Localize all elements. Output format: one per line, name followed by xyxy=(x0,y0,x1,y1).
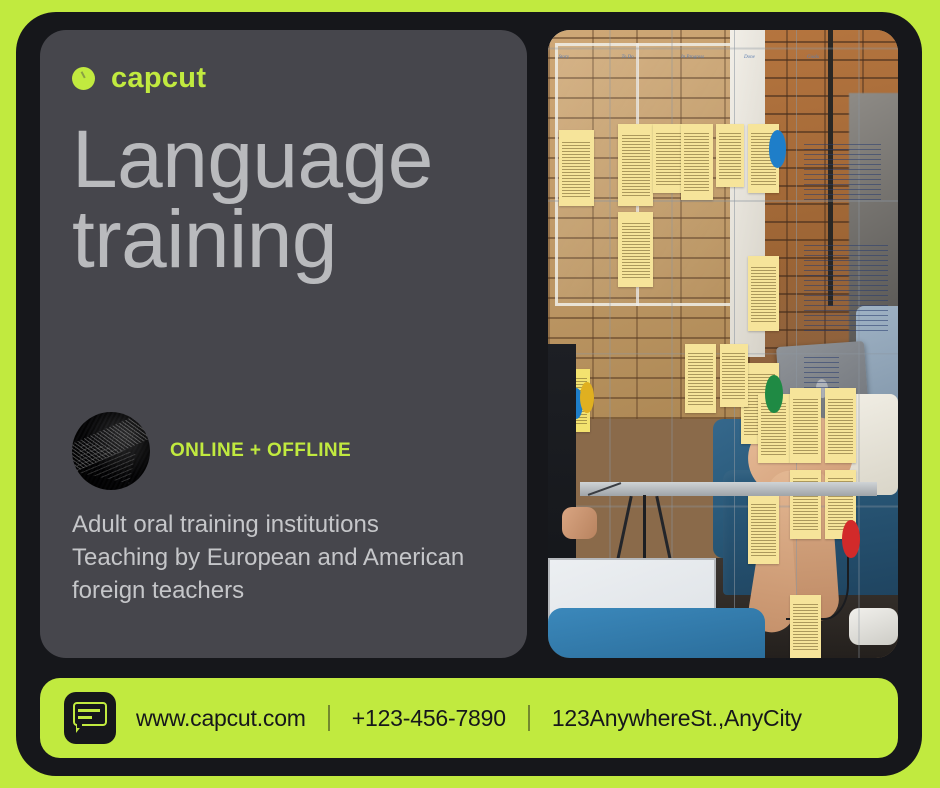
sticky-note xyxy=(790,595,822,658)
sticky-note xyxy=(716,124,744,187)
contact-separator xyxy=(528,705,530,731)
availability-badge: ONLINE + OFFLINE xyxy=(72,412,351,490)
board-column-header: To Do xyxy=(622,55,634,60)
magnet-green xyxy=(765,375,783,413)
board-column-header: Done xyxy=(744,55,755,60)
bubble-tail xyxy=(76,724,83,733)
sticky-note xyxy=(559,130,594,205)
sticky-note xyxy=(653,124,685,193)
sticky-note xyxy=(790,388,822,463)
sticky-note xyxy=(681,124,713,199)
sofa-foreground xyxy=(548,608,765,658)
sticky-note xyxy=(748,495,780,564)
info-panel: capcut Language training ONLINE + OFFLIN… xyxy=(40,30,527,658)
bubble-line xyxy=(78,716,92,719)
page-title: Language training xyxy=(72,120,495,281)
contact-footer: www.capcut.com +123-456-7890 123Anywhere… xyxy=(40,678,898,758)
sticky-note xyxy=(618,124,653,206)
sticky-note xyxy=(748,256,780,331)
magnet-red xyxy=(842,520,860,558)
circle-dot-icon xyxy=(72,67,95,90)
board-column-header: Story xyxy=(559,55,570,60)
contact-list: www.capcut.com +123-456-7890 123Anywhere… xyxy=(136,705,802,732)
sticky-note xyxy=(720,344,748,407)
sticky-note xyxy=(618,212,653,287)
brand-name: capcut xyxy=(111,62,206,95)
board-handwriting xyxy=(804,143,881,200)
poster-card: capcut Language training ONLINE + OFFLIN… xyxy=(16,12,922,776)
speech-bubble-icon[interactable] xyxy=(64,692,116,744)
brand-logo[interactable]: capcut xyxy=(72,58,495,98)
contact-separator xyxy=(328,705,330,731)
person-standing xyxy=(548,344,576,583)
description-text: Adult oral training institutions Teachin… xyxy=(72,508,502,607)
badge-label: ONLINE + OFFLINE xyxy=(170,440,351,462)
whiteboard: Story To Do In Progress Done Goals xyxy=(548,30,846,225)
bubble-line xyxy=(78,709,100,712)
board-column-header: In Progress xyxy=(681,55,704,60)
contact-website[interactable]: www.capcut.com xyxy=(136,705,306,732)
magnet-yellow xyxy=(580,382,594,413)
sticky-note xyxy=(685,344,717,413)
magnet-blue xyxy=(769,130,787,168)
board-handwriting xyxy=(804,357,839,388)
board-column-header: Goals xyxy=(807,55,819,60)
office-photo: Story To Do In Progress Done Goals xyxy=(548,30,898,658)
sticky-note xyxy=(825,388,857,463)
whiteboard-stand xyxy=(580,482,878,496)
person-hand xyxy=(562,507,597,538)
sticky-note xyxy=(790,470,822,539)
board-handwriting xyxy=(804,244,888,332)
contact-phone[interactable]: +123-456-7890 xyxy=(352,705,506,732)
contact-address[interactable]: 123AnywhereSt.,AnyCity xyxy=(552,705,802,732)
abstract-circle-thumbnail xyxy=(72,412,150,490)
